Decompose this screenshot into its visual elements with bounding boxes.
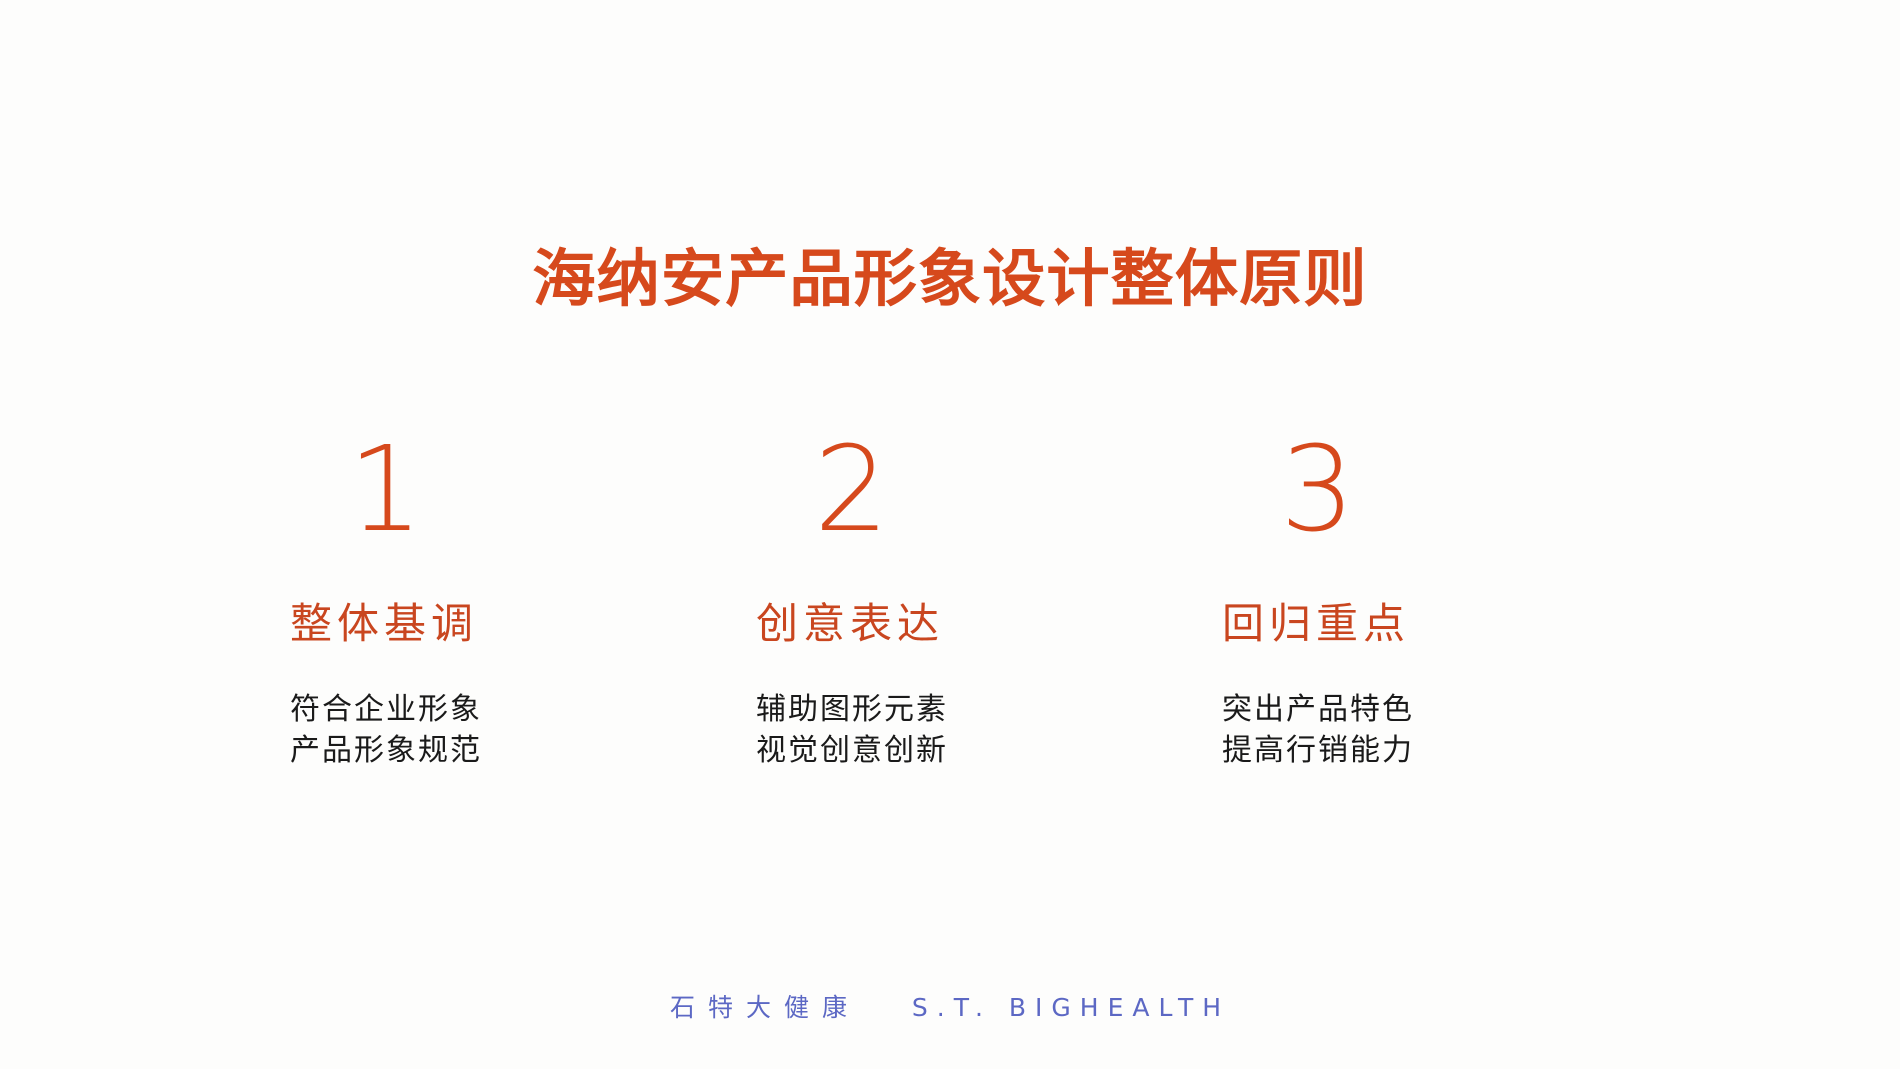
- slide-canvas: 海纳安产品形象设计整体原则 1 整体基调 符合企业形象 产品形象规范 2 创意表…: [0, 0, 1900, 1069]
- principle-body-3: 突出产品特色 提高行销能力: [1222, 689, 1414, 772]
- principle-heading-2: 创意表达: [756, 603, 944, 645]
- slide-footer: 石特大健康 S.T. BIGHEALTH: [0, 988, 1900, 1024]
- principle-body-line: 突出产品特色: [1222, 689, 1414, 730]
- footer-brand-cn: 石特大健康: [670, 993, 860, 1022]
- principle-body-2: 辅助图形元素 视觉创意创新: [756, 689, 948, 772]
- principle-body-line: 提高行销能力: [1222, 730, 1414, 771]
- principles-columns: 1 整体基调 符合企业形象 产品形象规范 2 创意表达 辅助图形元素 视觉创意创…: [250, 430, 1650, 772]
- footer-brand-en: S.T. BIGHEALTH: [912, 993, 1230, 1022]
- principle-column-3: 3 回归重点 突出产品特色 提高行销能力: [1182, 430, 1648, 772]
- principle-heading-3: 回归重点: [1222, 603, 1410, 645]
- principle-body-line: 视觉创意创新: [756, 730, 948, 771]
- principle-column-1: 1 整体基调 符合企业形象 产品形象规范: [250, 430, 716, 772]
- principle-number-1: 1: [348, 430, 423, 548]
- principle-body-1: 符合企业形象 产品形象规范: [290, 689, 482, 772]
- principle-number-2: 2: [814, 430, 889, 548]
- principle-heading-1: 整体基调: [290, 603, 478, 645]
- principle-body-line: 符合企业形象: [290, 689, 482, 730]
- principle-column-2: 2 创意表达 辅助图形元素 视觉创意创新: [716, 430, 1182, 772]
- principle-number-3: 3: [1280, 430, 1355, 548]
- page-title: 海纳安产品形象设计整体原则: [0, 248, 1900, 310]
- principle-body-line: 产品形象规范: [290, 730, 482, 771]
- principle-body-line: 辅助图形元素: [756, 689, 948, 730]
